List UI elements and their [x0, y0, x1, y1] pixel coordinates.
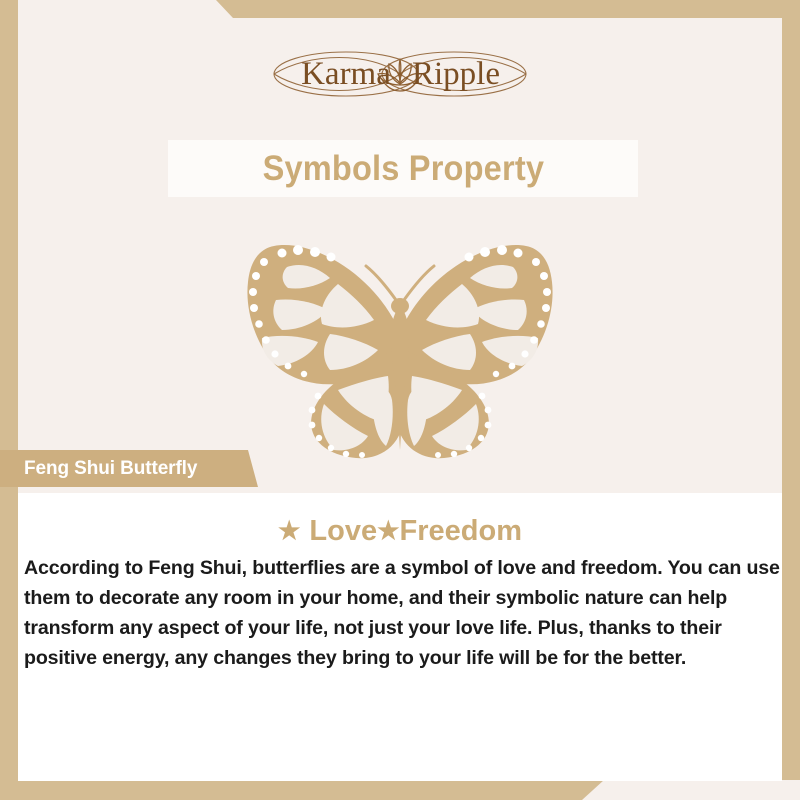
star-icon-left: ★	[278, 519, 300, 544]
poster-canvas: Karma Ripple Symbols Property	[0, 0, 800, 800]
brand-name-left: Karma	[301, 56, 391, 92]
butterfly-graphic	[218, 238, 582, 466]
brand-name-right: Ripple	[412, 56, 500, 92]
heading-word-freedom: Freedom	[400, 515, 522, 548]
left-tan-border	[0, 0, 18, 800]
brand-logo-graphic: Karma Ripple	[250, 36, 550, 112]
heading-word-love: Love	[309, 515, 377, 548]
section-heading: ★ Love ★ Freedom	[18, 512, 782, 550]
ribbon-label-text: Feng Shui Butterfly	[24, 458, 197, 480]
right-tan-border	[782, 0, 800, 800]
bottom-right-cream-notch	[582, 780, 800, 800]
star-icon-middle: ★	[377, 519, 399, 544]
title-banner: Symbols Property	[168, 140, 638, 197]
butterfly-icon	[218, 238, 582, 466]
ribbon-label: Feng Shui Butterfly	[0, 450, 258, 487]
page-title: Symbols Property	[262, 149, 544, 189]
description-paragraph: According to Feng Shui, butterflies are …	[24, 553, 780, 673]
brand-logo: Karma Ripple	[0, 34, 800, 114]
